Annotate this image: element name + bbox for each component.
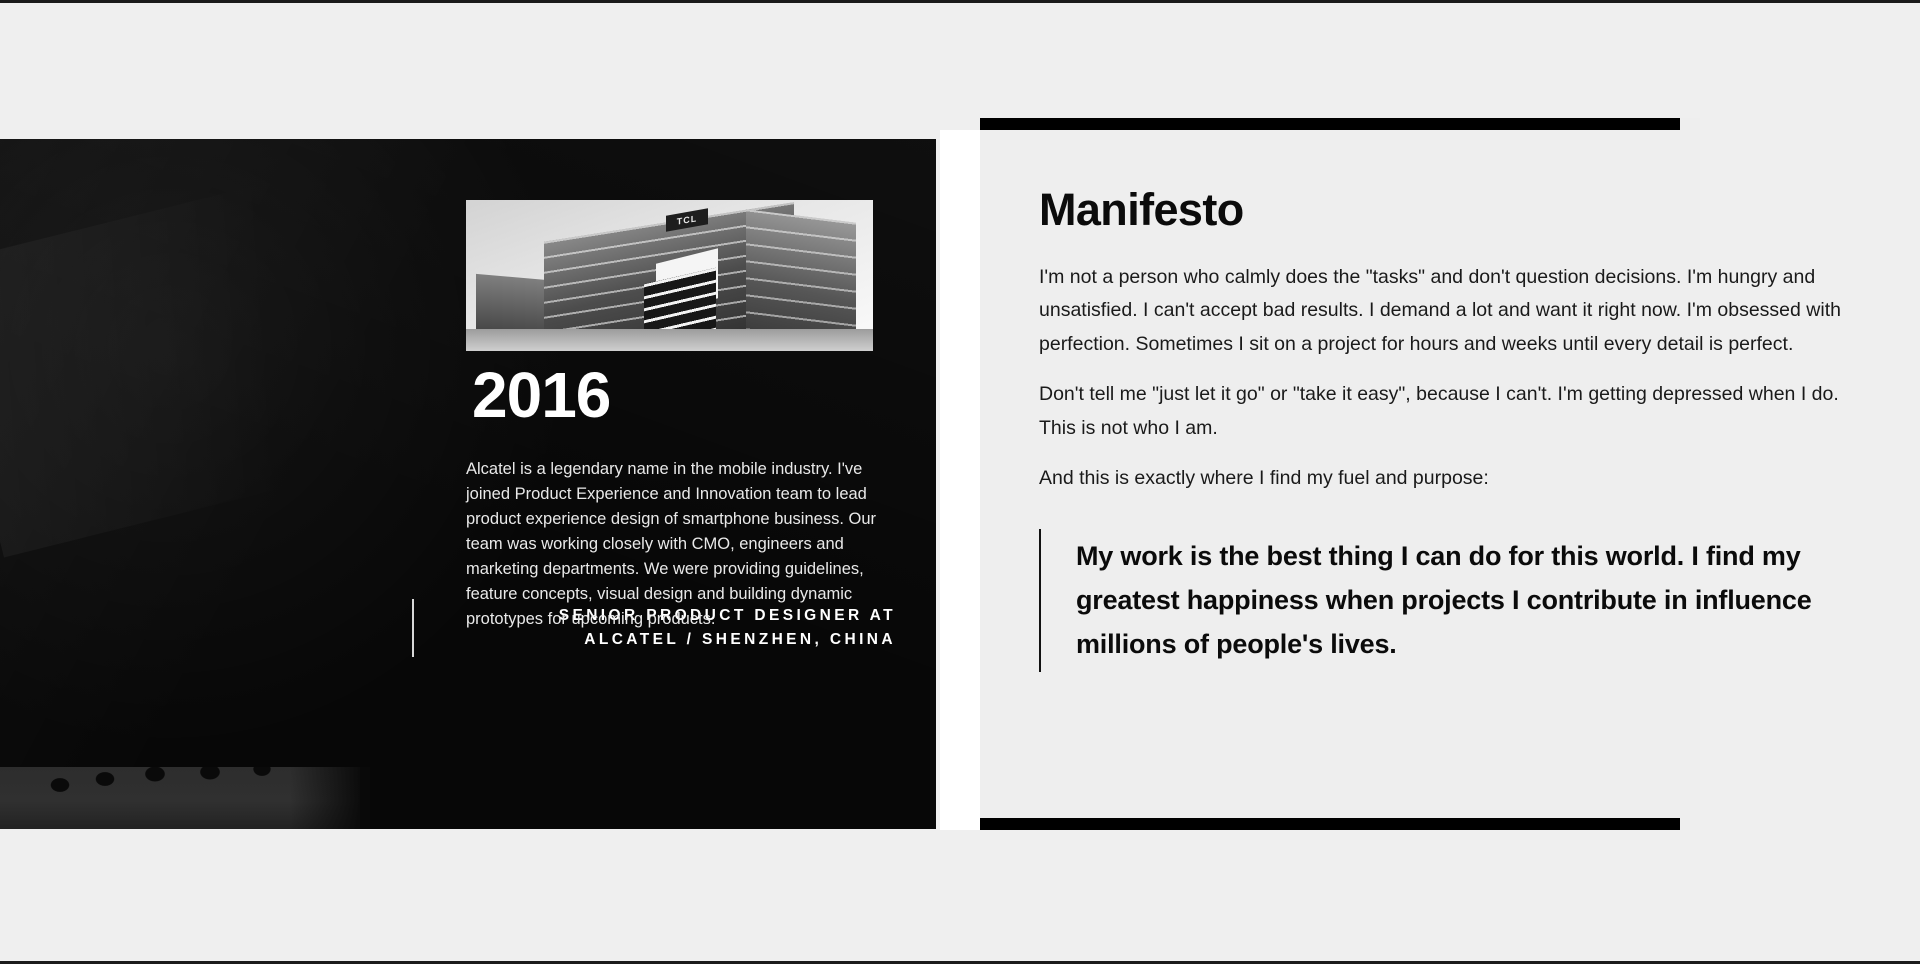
photo-foreground [466, 329, 873, 351]
manifesto-bottom-rule [980, 818, 1680, 830]
tcl-logo-label: TCL [677, 213, 698, 227]
manifesto-paragraph-2: Don't tell me "just let it go" or "take … [1039, 378, 1851, 446]
page-root: SENIOR PRODUCT DESIGNER AT ALCATEL / SHE… [0, 0, 1920, 964]
quote-text: My work is the best thing I can do for t… [1076, 529, 1851, 672]
experience-content-column: TCL 2016 Alcatel is a legendary name in … [466, 139, 936, 829]
top-hairline-divider [0, 0, 1920, 3]
year-label: 2016 [472, 363, 610, 427]
quote-accent-bar [1039, 529, 1041, 672]
manifesto-body: Manifesto I'm not a person who calmly do… [1039, 185, 1851, 672]
manifesto-paragraph-3: And this is exactly where I find my fuel… [1039, 462, 1851, 496]
experience-slide: SENIOR PRODUCT DESIGNER AT ALCATEL / SHE… [0, 139, 936, 829]
manifesto-top-rule [980, 118, 1680, 130]
manifesto-quote: My work is the best thing I can do for t… [1039, 529, 1851, 672]
background-photo-band-fade [290, 767, 370, 829]
experience-description: Alcatel is a legendary name in the mobil… [466, 457, 878, 633]
manifesto-paragraph-1: I'm not a person who calmly does the "ta… [1039, 261, 1851, 363]
vertical-divider [412, 599, 414, 657]
background-light-streak [0, 141, 509, 558]
office-building-photo: TCL [466, 200, 873, 351]
manifesto-title: Manifesto [1039, 185, 1851, 235]
slide-gutter [940, 130, 980, 830]
